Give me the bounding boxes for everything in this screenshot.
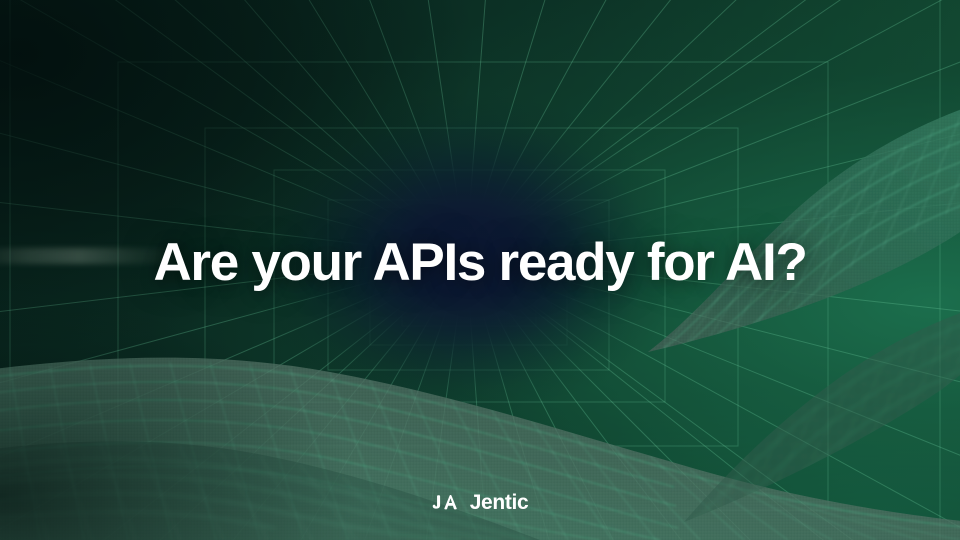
headline-container: Are your APIs ready for AI? — [0, 235, 960, 290]
wave-ribbon-upper-right — [600, 80, 960, 380]
title-card-slide: Are your APIs ready for AI? Jentic — [0, 0, 960, 540]
wave-ribbon-lower-left — [0, 420, 570, 540]
brand-logo: Jentic — [0, 490, 960, 514]
jentic-swoosh-icon — [432, 490, 461, 514]
brand-name: Jentic — [470, 492, 529, 513]
page-title: Are your APIs ready for AI? — [153, 235, 806, 290]
